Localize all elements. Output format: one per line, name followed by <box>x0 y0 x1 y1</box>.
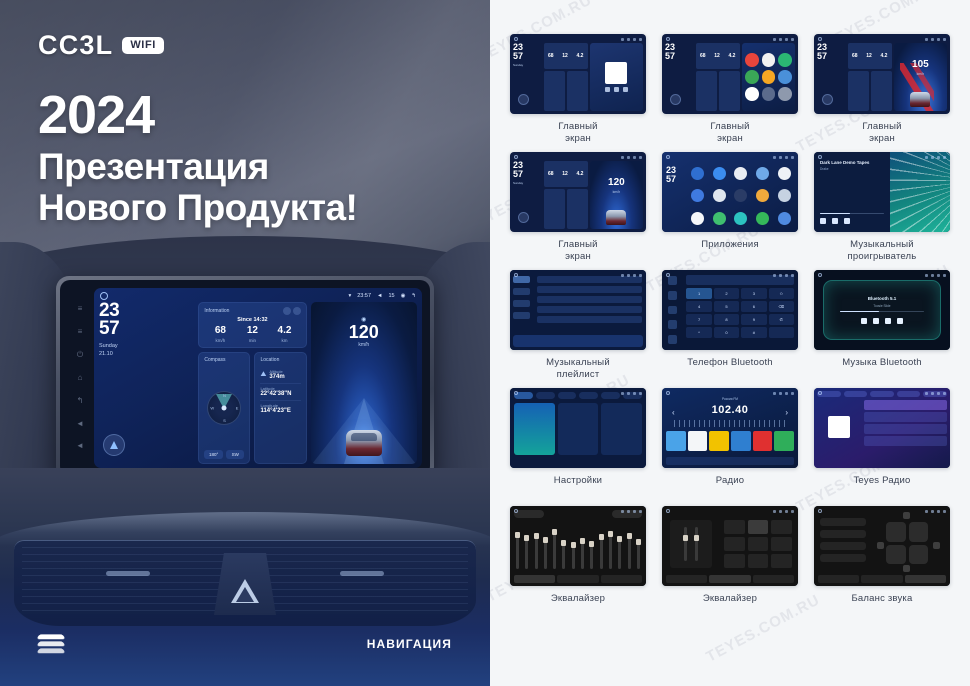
hazard-triangle-icon <box>231 579 259 603</box>
equalizer-footer-tabs[interactable] <box>514 575 642 583</box>
music-progress-bar[interactable] <box>820 213 884 215</box>
stat-avg-speed-value: 68 <box>700 53 706 59</box>
preset-classic <box>724 537 745 551</box>
gallery-item[interactable]: Музыкальный плейлист <box>510 270 646 381</box>
balance-left-icon[interactable] <box>877 542 884 549</box>
settings-gear-icon[interactable] <box>283 307 291 315</box>
thumbnail-equalizer-presets[interactable] <box>662 506 798 586</box>
caption-line-2: экран <box>558 251 597 263</box>
mini-lower-widgets <box>696 71 740 111</box>
caption-line-2: экран <box>710 133 749 145</box>
sidebar-item-search <box>668 306 677 315</box>
gallery-item[interactable]: Баланс звука <box>814 506 950 617</box>
preset-vocal <box>748 537 769 551</box>
playlist-screen <box>510 270 646 350</box>
bt-progress-fill <box>840 311 879 313</box>
thumbnail-bluetooth-phone[interactable]: 123✩ 456⌫ 789✆ *0# <box>662 270 798 350</box>
location-altitude-row: ⛰ Altitude 374m <box>260 369 300 380</box>
preset-5 <box>753 431 773 451</box>
preset-1 <box>666 431 686 451</box>
call-icon[interactable]: ✆ <box>769 314 794 325</box>
volume-down-icon[interactable]: ◄ <box>76 420 84 428</box>
home-icon <box>666 391 670 395</box>
equalizer-footer-tabs[interactable] <box>818 575 946 583</box>
thumbnail-playlist[interactable] <box>510 270 646 350</box>
page-title: 2024 Презентация Нового Продукта! <box>38 88 357 229</box>
tab-fader <box>601 575 642 583</box>
bluetooth-music-screen: Bluetooth 5.1 Toosie Slide <box>814 270 950 350</box>
radio-frequency: 102.40 <box>662 404 798 416</box>
clock-minutes: 57 <box>99 320 194 338</box>
t-status-bar <box>818 390 946 396</box>
thumbnail-teyes-radio[interactable] <box>814 388 950 468</box>
next-icon[interactable] <box>897 318 903 324</box>
t-status-icons <box>773 156 794 159</box>
app-icon-contacts[interactable] <box>713 189 726 202</box>
key-9[interactable]: 9 <box>741 314 766 325</box>
mini-widgets: 68 12 4.2 <box>848 43 892 111</box>
settings-cards[interactable] <box>514 403 642 455</box>
app-icon-radio[interactable] <box>778 212 791 225</box>
mini-information-card: 68 12 4.2 <box>848 43 892 69</box>
option-front <box>820 518 866 526</box>
subwoofer-faders[interactable] <box>670 520 712 568</box>
navigation-fab-button[interactable] <box>518 212 529 223</box>
footer-label: НАВИГАЦИЯ <box>367 637 452 651</box>
refresh-icon[interactable] <box>293 307 301 315</box>
mini-clock-minutes: 57 <box>817 52 846 61</box>
hero-footer: НАВИГАЦИЯ <box>0 624 490 664</box>
thumbnail-caption: Эквалайзер <box>551 593 605 617</box>
thumbnail-home-media[interactable]: 23 57 Sunday 68 12 4.2 <box>510 34 646 114</box>
key-4[interactable]: 4 <box>686 301 711 312</box>
app-icon-filemanager[interactable] <box>756 189 769 202</box>
t-status-bar <box>818 508 946 514</box>
key-8[interactable]: 8 <box>714 314 739 325</box>
home-icon <box>666 273 670 277</box>
list-item <box>864 400 947 410</box>
preset-bass <box>771 537 792 551</box>
app-icon-maps[interactable] <box>713 212 726 225</box>
t-status-bar <box>514 272 642 278</box>
brand-name: CC3L <box>38 32 113 59</box>
gallery-item[interactable]: Эквалайзер <box>662 506 798 617</box>
navigation-fab-button[interactable] <box>103 434 125 456</box>
t-status-bar <box>666 154 794 160</box>
home-icon <box>818 391 822 395</box>
gallery-row: 23 57 Sunday 68 12 4.2 <box>510 152 950 263</box>
home-button-icon[interactable]: ⌂ <box>78 374 83 382</box>
preset-grid[interactable] <box>724 520 792 568</box>
fader-band-10 <box>600 534 603 569</box>
compass-title: Compass <box>204 357 244 363</box>
gallery-item[interactable]: Настройки <box>510 388 646 499</box>
location-altitude: Altitude 374m <box>269 369 284 380</box>
music-visualizer <box>890 152 950 232</box>
mini-information-card: 68 12 4.2 <box>544 43 588 69</box>
music-progress-fill <box>820 213 850 215</box>
t-status-bar <box>666 390 794 396</box>
navigation-fab-button[interactable] <box>822 94 833 105</box>
navigation-fab-button[interactable] <box>518 94 529 105</box>
fader-band-1 <box>516 532 519 569</box>
star-icon[interactable]: ✩ <box>769 288 794 299</box>
thumbnail-caption: Телефон Bluetooth <box>687 357 773 381</box>
apps-screen: 23 57 <box>662 152 798 232</box>
caption-line-1: Главный <box>558 239 597 251</box>
preset-3 <box>709 431 729 451</box>
speaker-rear-right <box>909 545 929 565</box>
gallery-item[interactable]: 123✩ 456⌫ 789✆ *0# Телефон Bluetooth <box>662 270 798 381</box>
preset-jazz <box>771 520 792 534</box>
information-card-actions[interactable] <box>283 307 300 317</box>
teyes-radio-screen <box>814 388 950 468</box>
information-card[interactable]: Information Since 14:32 <box>198 302 306 348</box>
compass-dial: N S W E <box>207 391 241 425</box>
caption-line-2: проигрыватель <box>848 251 917 263</box>
navigation-fab-button[interactable] <box>670 94 681 105</box>
key-1[interactable]: 1 <box>686 288 711 299</box>
music-controls[interactable] <box>820 218 884 224</box>
mini-media-widget <box>590 43 643 111</box>
tab-eq <box>818 575 859 583</box>
stat-distance-value: 4.2 <box>576 53 583 59</box>
fader-band-12 <box>618 536 621 569</box>
app-icon-google[interactable] <box>691 212 704 225</box>
caption-line-1: Главный <box>710 121 749 133</box>
vent-slider-left <box>106 571 150 576</box>
caption-line-2: экран <box>862 133 901 145</box>
location-longitude: Longitude 114°4'23"E <box>260 400 300 414</box>
mini-compass-card <box>696 71 717 111</box>
prev-icon[interactable] <box>820 218 826 224</box>
thumbnail-caption: Музыкальный плейлист <box>546 357 610 381</box>
key-7[interactable]: 7 <box>686 314 711 325</box>
app-icon-grid <box>778 87 792 101</box>
preset-6 <box>774 431 794 451</box>
stat-avg-speed-unit: km/h <box>204 338 236 343</box>
mini-compass-card <box>848 71 869 111</box>
app-icon-play <box>745 87 759 101</box>
radio-presets[interactable] <box>666 431 794 451</box>
preset-4 <box>731 431 751 451</box>
key-hash[interactable]: # <box>741 327 766 338</box>
thumbnail-caption: Радио <box>716 475 744 499</box>
back-button-icon[interactable]: ↰ <box>77 397 84 405</box>
list-item <box>537 296 642 303</box>
tab-sub <box>861 575 902 583</box>
gallery-item[interactable]: Teyes Радио <box>814 388 950 499</box>
clock-widget[interactable]: 23 57 Sunday 21.10 <box>99 302 194 464</box>
gallery-row: Музыкальный плейлист 123✩ 456⌫ <box>510 270 950 381</box>
fader-band-8 <box>581 538 584 569</box>
prev-station-icon[interactable]: ‹ <box>672 408 675 417</box>
key-star[interactable]: * <box>686 327 711 338</box>
thumbnail-home-apps[interactable]: 23 57 68 12 4.2 <box>662 34 798 114</box>
album-art <box>605 62 627 84</box>
option-right <box>820 554 866 562</box>
balance-right-icon[interactable] <box>933 542 940 549</box>
wifi-badge: WIFI <box>122 37 164 54</box>
mini-lower-widgets <box>544 189 588 229</box>
stat-distance-value: 4.2 <box>576 171 583 177</box>
thumbnail-caption: Главный экран <box>862 121 901 145</box>
menu-button-icon[interactable]: ≡ <box>78 305 83 313</box>
card-hotspot <box>558 403 599 455</box>
thumbnail-settings[interactable] <box>510 388 646 468</box>
home-icon <box>818 509 822 513</box>
t-status-icons <box>925 274 946 277</box>
list-item <box>537 316 642 323</box>
vent-slider-right <box>340 571 384 576</box>
gallery-row: 23 57 Sunday 68 12 4.2 <box>510 34 950 145</box>
stat-duration-value: 12 <box>866 53 872 59</box>
caption-line-1: Телефон Bluetooth <box>687 357 773 369</box>
t-status-icons <box>925 156 946 159</box>
app-icon-browser <box>762 53 776 67</box>
gallery-row: Эквалайзер <box>510 506 950 617</box>
list-item <box>537 286 642 293</box>
key-5[interactable]: 5 <box>714 301 739 312</box>
thumbnail-sound-balance[interactable] <box>814 506 950 586</box>
mini-compass-card <box>544 71 565 111</box>
play-pause-icon[interactable] <box>873 318 879 324</box>
gallery-item[interactable]: 23 57 Sunday 68 12 4.2 <box>510 152 646 263</box>
app-icon-files <box>762 70 776 84</box>
app-icon-gallery[interactable] <box>778 189 791 202</box>
speaker-front-right <box>909 522 929 542</box>
key-3[interactable]: 3 <box>741 288 766 299</box>
information-since: Since 14:32 <box>204 317 300 323</box>
gallery-item[interactable]: 23 57 Sunday 68 12 4.2 <box>510 34 646 145</box>
thumbnail-bluetooth-music[interactable]: Bluetooth 5.1 Toosie Slide <box>814 270 950 350</box>
preset-custom <box>724 554 745 568</box>
gallery-item[interactable]: 23 57 68 12 4.2 <box>662 34 798 145</box>
home-icon <box>666 509 670 513</box>
gallery-item[interactable]: Россия FM 102.40 ‹ › <box>662 388 798 499</box>
media-controls <box>605 87 628 92</box>
t-status-bar <box>514 390 642 396</box>
stat-avg-speed: 68 km/h <box>204 326 236 343</box>
caption-line-1: Приложения <box>701 239 759 251</box>
preset-rock <box>748 520 769 534</box>
compass-hub <box>222 406 227 411</box>
app-icon-camera[interactable] <box>778 167 791 180</box>
fader-band-11 <box>609 531 612 569</box>
sidebar-item-folders <box>513 312 530 319</box>
music-info: Dark Lane Demo Tapes Drake <box>814 152 890 232</box>
app-icon-equalizer[interactable] <box>734 189 747 202</box>
next-icon[interactable] <box>844 218 850 224</box>
tab-eq <box>666 575 707 583</box>
app-icon-calculator[interactable] <box>756 167 769 180</box>
balance-down-icon[interactable] <box>903 565 910 572</box>
gallery-item[interactable]: 23 57 <box>662 152 798 263</box>
key-0[interactable]: 0 <box>714 327 739 338</box>
equalizer-faders[interactable] <box>514 521 642 569</box>
mini-location-card <box>871 71 892 111</box>
home-icon <box>818 155 822 159</box>
stop-icon[interactable] <box>885 318 891 324</box>
t-status-icons <box>621 274 642 277</box>
thumbnail-equalizer-bands[interactable] <box>510 506 646 586</box>
app-icon-musicplayer[interactable] <box>734 212 747 225</box>
thumbnail-caption: Баланс звука <box>852 593 913 617</box>
app-icon-playstore[interactable] <box>756 212 769 225</box>
station-list[interactable] <box>864 400 947 454</box>
gallery-item[interactable]: 23 57 68 12 4.2 <box>814 34 950 145</box>
app-icon-bluetooth[interactable] <box>713 167 726 180</box>
thumbnail-caption: Настройки <box>554 475 602 499</box>
speaker-front-left <box>886 522 906 542</box>
radio-toolbar[interactable] <box>666 457 794 465</box>
location-title: Location <box>260 357 300 363</box>
compass-south: S <box>223 418 226 423</box>
mute-button-icon[interactable]: ≡ <box>78 328 83 336</box>
compass-card[interactable]: Compass N S W E <box>198 352 250 464</box>
key-2[interactable]: 2 <box>714 288 739 299</box>
t-status-bar <box>818 272 946 278</box>
app-icon-music[interactable] <box>734 167 747 180</box>
mini-compass-card <box>544 189 565 229</box>
back-arrow-icon[interactable]: ↰ <box>411 293 416 299</box>
screenshot-gallery: TEYES.COM.RU TEYES.COM.RU TEYES.COM.RU T… <box>490 0 970 686</box>
fader-band-2 <box>525 535 528 569</box>
balance-options[interactable] <box>820 518 866 562</box>
thumbnail-home-nav[interactable]: 23 57 Sunday 68 12 4.2 <box>510 152 646 232</box>
fader-band-9 <box>590 541 593 569</box>
card-more <box>601 403 642 455</box>
location-altitude-value: 374m <box>269 374 284 380</box>
mini-speed-unit: km/h <box>590 190 643 194</box>
home-icon <box>514 273 518 277</box>
power-button-icon[interactable]: ⏻ <box>77 351 83 359</box>
mini-widgets: 68 12 4.2 <box>696 43 740 111</box>
list-item <box>864 424 947 434</box>
thumbnail-caption: Музыкальный проигрыватель <box>848 239 917 263</box>
sidebar-item-albums <box>513 288 530 295</box>
stat-duration: 12 min <box>236 326 268 343</box>
t-body: 23 57 Sunday 68 12 4.2 <box>513 43 643 111</box>
home-icon[interactable] <box>100 292 108 300</box>
stat-duration-value: 12 <box>562 53 568 59</box>
bt-controls[interactable] <box>861 318 903 324</box>
thumbnail-radio[interactable]: Россия FM 102.40 ‹ › <box>662 388 798 468</box>
thumbnail-caption: Главный экран <box>558 121 597 145</box>
tab-fader <box>905 575 946 583</box>
key-6[interactable]: 6 <box>741 301 766 312</box>
fader-sub-left <box>684 527 687 561</box>
app-icon-dvr[interactable] <box>691 167 704 180</box>
key-blank <box>769 327 794 338</box>
t-status-icons <box>621 392 642 395</box>
play-icon <box>614 87 619 92</box>
prev-icon[interactable] <box>861 318 867 324</box>
balance-pad[interactable] <box>886 522 928 564</box>
caption-line-1: Настройки <box>554 475 602 487</box>
head-unit-screen[interactable]: ▾ 23:57 ◄ 15 ◉ ↰ 23 57 <box>94 288 422 468</box>
radio-tuning-scale[interactable] <box>674 420 786 427</box>
next-station-icon[interactable]: › <box>785 408 788 417</box>
hero-panel: CC3L WIFI 2024 Презентация Нового Продук… <box>0 0 490 686</box>
mini-clock-minutes: 57 <box>513 52 542 61</box>
thumbnail-home-nav-red[interactable]: 23 57 68 12 4.2 <box>814 34 950 114</box>
backspace-icon[interactable]: ⌫ <box>769 301 794 312</box>
speed-unit: km/h <box>311 342 418 348</box>
gallery-item[interactable]: Эквалайзер <box>510 506 646 617</box>
apps-grid[interactable] <box>688 164 794 228</box>
navigation-widget[interactable]: ◉ 120 km/h <box>311 302 418 464</box>
equalizer-presets-screen <box>662 506 798 586</box>
stat-duration-value: 12 <box>714 53 720 59</box>
caption-line-1: Teyes Радио <box>853 475 910 487</box>
location-card[interactable]: Location ⛰ Altitude 374m <box>254 352 306 464</box>
phone-sidebar[interactable] <box>662 270 682 350</box>
volume-icon: ◄ <box>377 293 382 299</box>
pause-icon[interactable] <box>832 218 838 224</box>
location-latitude: Latitude 22°42'38"N <box>260 383 300 397</box>
radio-band-label: Россия FM <box>662 397 798 401</box>
compass-north: N <box>223 393 226 398</box>
home-icon <box>514 155 518 159</box>
equalizer-footer-tabs[interactable] <box>666 575 794 583</box>
app-icon-settings <box>762 87 776 101</box>
navigation-arrow-icon <box>110 441 118 449</box>
volume-up-icon[interactable]: ◄ <box>76 442 84 450</box>
app-icon-maps <box>778 53 792 67</box>
sidebar-item-calllog <box>668 320 677 329</box>
home-icon <box>666 37 670 41</box>
mini-information-card: 68 12 4.2 <box>696 43 740 69</box>
head-unit-side-buttons[interactable]: ≡ ≡ ⏻ ⌂ ↰ ◄ ◄ <box>69 292 91 464</box>
home-icon <box>818 37 822 41</box>
t-status-bar <box>666 272 794 278</box>
screen-body: 23 57 Sunday 21.10 Information <box>99 302 417 464</box>
thumbnail-caption: Приложения <box>701 239 759 263</box>
mini-clock-weekday: Sunday <box>513 63 542 67</box>
dialpad-keys[interactable]: 123✩ 456⌫ 789✆ *0# <box>686 288 794 338</box>
t-status-icons <box>773 38 794 41</box>
t-status-bar <box>666 36 794 42</box>
caption-line-1: Музыка Bluetooth <box>842 357 922 369</box>
mini-speed-value: 120 <box>590 177 643 188</box>
now-playing-bar[interactable] <box>513 335 643 347</box>
air-vent <box>14 540 476 626</box>
gallery-item[interactable]: Bluetooth 5.1 Toosie Slide Музыка Blueto… <box>814 270 950 381</box>
caption-line-1: Главный <box>558 121 597 133</box>
mini-clock-minutes: 57 <box>666 175 686 184</box>
fader-band-5 <box>553 529 556 569</box>
headline-line-2: Нового Продукта! <box>38 187 357 228</box>
stat-avg-speed-value: 68 <box>204 326 236 336</box>
preset-2 <box>688 431 708 451</box>
thumbnail-music-player[interactable]: Dark Lane Demo Tapes Drake <box>814 152 950 232</box>
information-title: Information <box>204 308 229 314</box>
app-icon-chrome[interactable] <box>691 189 704 202</box>
bluetooth-card: Bluetooth 5.1 Toosie Slide <box>824 281 941 339</box>
bluetooth-phone-screen: 123✩ 456⌫ 789✆ *0# <box>662 270 798 350</box>
next-icon <box>623 87 628 92</box>
bluetooth-track: Toosie Slide <box>873 304 890 308</box>
thumbnail-apps[interactable]: 23 57 <box>662 152 798 232</box>
mini-lower-widgets <box>848 71 892 111</box>
app-icon-youtube <box>745 53 759 67</box>
gallery-item[interactable]: Dark Lane Demo Tapes Drake <box>814 152 950 263</box>
stat-avg-speed-value: 68 <box>852 53 858 59</box>
bt-progress-bar[interactable] <box>840 311 924 313</box>
list-item <box>864 436 947 446</box>
hazard-button[interactable] <box>214 553 276 615</box>
